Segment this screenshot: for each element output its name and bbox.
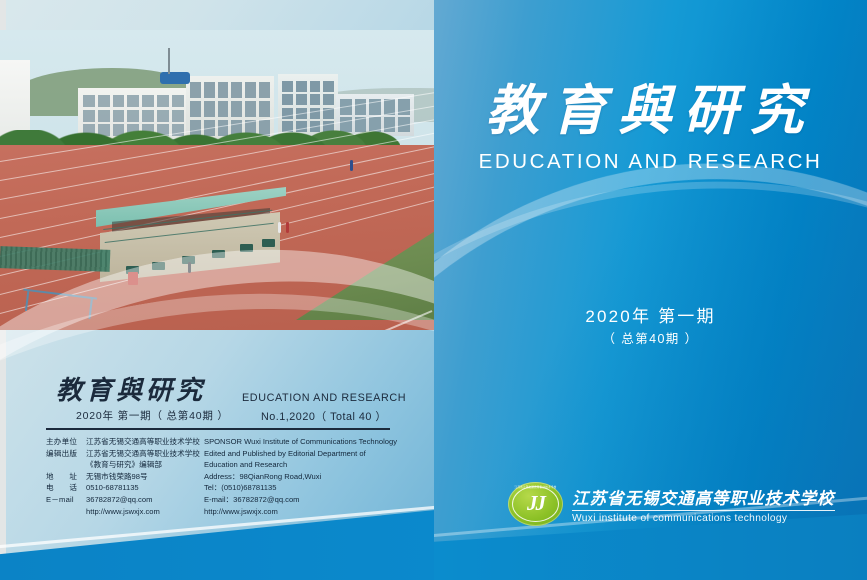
- window: [157, 110, 169, 122]
- window: [218, 101, 229, 117]
- window: [127, 95, 139, 107]
- window: [282, 81, 293, 92]
- window: [190, 101, 201, 117]
- window: [231, 82, 242, 98]
- window: [323, 81, 334, 92]
- masthead-divider: [46, 428, 390, 430]
- window: [296, 81, 307, 92]
- antenna-mast: [168, 48, 170, 74]
- imprint-line: Address：98QianRong Road,Wuxi: [204, 471, 404, 483]
- imprint-key: 编辑出版: [46, 448, 86, 460]
- back-cover: 教育與研究 2020年 第一期（ 总第40期 ） EDUCATION AND R…: [0, 0, 440, 580]
- imprint-row: 主办单位江苏省无锡交通高等职业技术学校: [46, 436, 204, 448]
- person: [286, 222, 289, 233]
- imprint-line: Tel：(0510)68781135: [204, 482, 404, 494]
- person: [350, 160, 353, 171]
- emblem-ring-text: 江苏省无锡交通高等职业技术学校: [508, 485, 563, 489]
- window: [83, 110, 95, 122]
- imprint-row: 《教育与研究》编辑部: [46, 459, 204, 471]
- window: [245, 82, 256, 98]
- imprint-value: 36782872@qq.com: [86, 494, 152, 506]
- imprint-chinese: 主办单位江苏省无锡交通高等职业技术学校编辑出版江苏省无锡交通高等职业技术学校《教…: [46, 436, 204, 517]
- window: [282, 94, 293, 105]
- imprint-line: SPONSOR Wuxi Institute of Communications…: [204, 436, 404, 448]
- window: [172, 95, 184, 107]
- window: [259, 101, 270, 117]
- window: [323, 94, 334, 105]
- back-subtitle-cn: 2020年 第一期（ 总第40期 ）: [76, 408, 229, 423]
- window: [218, 82, 229, 98]
- imprint-row: http://www.jswxjx.com: [46, 506, 204, 518]
- window: [172, 110, 184, 122]
- person: [278, 222, 281, 233]
- imprint-row: 地 址无锡市钱荣路98号: [46, 471, 204, 483]
- window: [98, 95, 110, 107]
- magazine-cover-spread: 教育與研究 2020年 第一期（ 总第40期 ） EDUCATION AND R…: [0, 0, 867, 580]
- window: [113, 95, 125, 107]
- window: [127, 110, 139, 122]
- imprint-block: 主办单位江苏省无锡交通高等职业技术学校编辑出版江苏省无锡交通高等职业技术学校《教…: [46, 436, 406, 517]
- window: [157, 95, 169, 107]
- window: [190, 82, 201, 98]
- window: [113, 110, 125, 122]
- window: [204, 101, 215, 117]
- imprint-key: E－mail: [46, 494, 86, 506]
- school-name-cn: 江苏省无锡交通高等职业技术学校: [572, 485, 835, 511]
- imprint-row: E－mail36782872@qq.com: [46, 494, 204, 506]
- imprint-key: [46, 459, 86, 471]
- window: [142, 95, 154, 107]
- window: [259, 82, 270, 98]
- back-subtitle-en: No.1,2020（ Total 40 ）: [261, 408, 387, 424]
- imprint-line: E-mail：36782872@qq.com: [204, 494, 404, 506]
- window: [355, 99, 367, 115]
- imprint-value: 无锡市钱荣路98号: [86, 471, 148, 483]
- window: [310, 94, 321, 105]
- window: [310, 81, 321, 92]
- window: [231, 101, 242, 117]
- stand-window: [262, 239, 275, 247]
- imprint-key: 主办单位: [46, 436, 86, 448]
- school-emblem-icon: 江苏省无锡交通高等职业技术学校 JJ: [508, 482, 563, 526]
- back-title-cn: 教育與研究: [56, 370, 206, 407]
- imprint-key: [46, 506, 86, 518]
- roof-sign: [160, 72, 190, 84]
- imprint-row: 编辑出版江苏省无锡交通高等职业技术学校: [46, 448, 204, 460]
- window: [204, 82, 215, 98]
- cover-title-cn: 教育與研究: [434, 66, 867, 145]
- window: [296, 94, 307, 105]
- imprint-value: 0510-68781135: [86, 482, 139, 494]
- cover-issue: 2020年 第一期: [434, 302, 867, 327]
- school-logo: 江苏省无锡交通高等职业技术学校 JJ 江苏省无锡交通高等职业技术学校 Wuxi …: [508, 482, 835, 526]
- imprint-english: SPONSOR Wuxi Institute of Communications…: [204, 436, 404, 517]
- cover-title-en: EDUCATION AND RESEARCH: [434, 150, 867, 174]
- window: [142, 110, 154, 122]
- imprint-value: http://www.jswxjx.com: [86, 506, 160, 518]
- emblem-ring: [512, 486, 559, 522]
- imprint-value: 江苏省无锡交通高等职业技术学校: [86, 448, 200, 460]
- imprint-value: 江苏省无锡交通高等职业技术学校: [86, 436, 200, 448]
- cover-issue-total: （ 总第40期 ）: [434, 328, 867, 347]
- imprint-line: Education and Research: [204, 459, 404, 471]
- school-name-en: Wuxi institute of communications technol…: [572, 513, 835, 524]
- imprint-key: 电 话: [46, 482, 86, 494]
- imprint-line: Edited and Published by Editorial Depart…: [204, 448, 404, 460]
- imprint-row: 电 话0510-68781135: [46, 482, 204, 494]
- back-title-en: EDUCATION AND RESEARCH: [242, 392, 406, 404]
- green-fence: [0, 246, 110, 272]
- window: [83, 95, 95, 107]
- imprint-key: 地 址: [46, 471, 86, 483]
- window: [245, 101, 256, 117]
- window: [98, 110, 110, 122]
- imprint-value: 《教育与研究》编辑部: [86, 459, 162, 471]
- logo-text-group: 江苏省无锡交通高等职业技术学校 Wuxi institute of commun…: [572, 485, 835, 524]
